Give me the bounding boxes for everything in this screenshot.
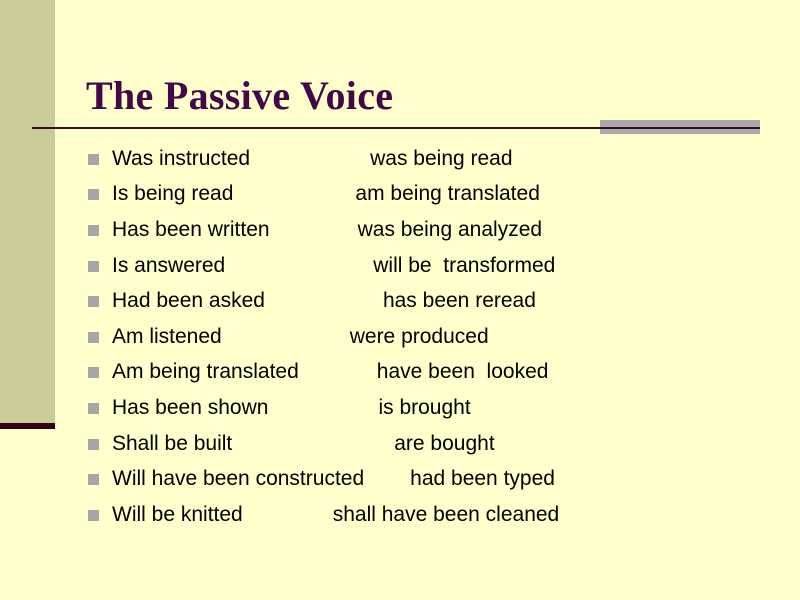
list-item: Will have been constructedhad been typed [88, 461, 788, 497]
list-item: Had been askedhas been reread [88, 283, 788, 319]
list-item: Will be knittedshall have been cleaned [88, 497, 788, 533]
list-item-left-text: Has been written [112, 217, 270, 243]
list-item-left-text: Is answered [112, 253, 225, 279]
list-item-right-text: is brought [378, 395, 470, 421]
slide-canvas: The Passive Voice Was instructedwas bein… [0, 0, 800, 600]
list-item-right-text: have been looked [377, 359, 549, 385]
left-decorative-band [0, 0, 55, 423]
list-item-right-text: had been typed [410, 466, 555, 492]
list-item-left-text: Is being read [112, 181, 233, 207]
list-item-right-text: will be transformed [373, 253, 555, 279]
square-bullet-icon [88, 439, 99, 450]
square-bullet-icon [88, 154, 99, 165]
square-bullet-icon [88, 474, 99, 485]
list-item-right-text: was being read [370, 146, 512, 172]
list-item-left-text: Has been shown [112, 395, 268, 421]
list-item: Has been writtenwas being analyzed [88, 212, 788, 248]
square-bullet-icon [88, 332, 99, 343]
left-band-end-cap [0, 423, 55, 429]
list-item: Am listenedwere produced [88, 319, 788, 355]
title-divider-rule [32, 127, 760, 129]
list-item-right-text: has been reread [383, 288, 536, 314]
list-item-right-text: shall have been cleaned [333, 502, 560, 528]
page-title: The Passive Voice [86, 72, 746, 120]
list-item: Is being readam being translated [88, 177, 788, 213]
square-bullet-icon [88, 225, 99, 236]
list-item-left-text: Was instructed [112, 146, 250, 172]
list-item: Shall be builtare bought [88, 426, 788, 462]
list-item-right-text: were produced [350, 324, 489, 350]
list-item: Is answeredwill be transformed [88, 248, 788, 284]
list-item-left-text: Will have been constructed [112, 466, 364, 492]
list-item-left-text: Will be knitted [112, 502, 243, 528]
square-bullet-icon [88, 261, 99, 272]
list-item-right-text: are bought [394, 431, 494, 457]
list-item-right-text: am being translated [355, 181, 539, 207]
square-bullet-icon [88, 403, 99, 414]
square-bullet-icon [88, 189, 99, 200]
list-item: Am being translatedhave been looked [88, 355, 788, 391]
list-item-left-text: Am being translated [112, 359, 299, 385]
list-item-right-text: was being analyzed [358, 217, 542, 243]
square-bullet-icon [88, 367, 99, 378]
square-bullet-icon [88, 510, 99, 521]
list-item-left-text: Shall be built [112, 431, 232, 457]
square-bullet-icon [88, 296, 99, 307]
list-item-left-text: Am listened [112, 324, 222, 350]
list-item: Was instructedwas being read [88, 141, 788, 177]
bullet-list: Was instructedwas being readIs being rea… [88, 141, 788, 533]
list-item: Has been shownis brought [88, 390, 788, 426]
list-item-left-text: Had been asked [112, 288, 265, 314]
